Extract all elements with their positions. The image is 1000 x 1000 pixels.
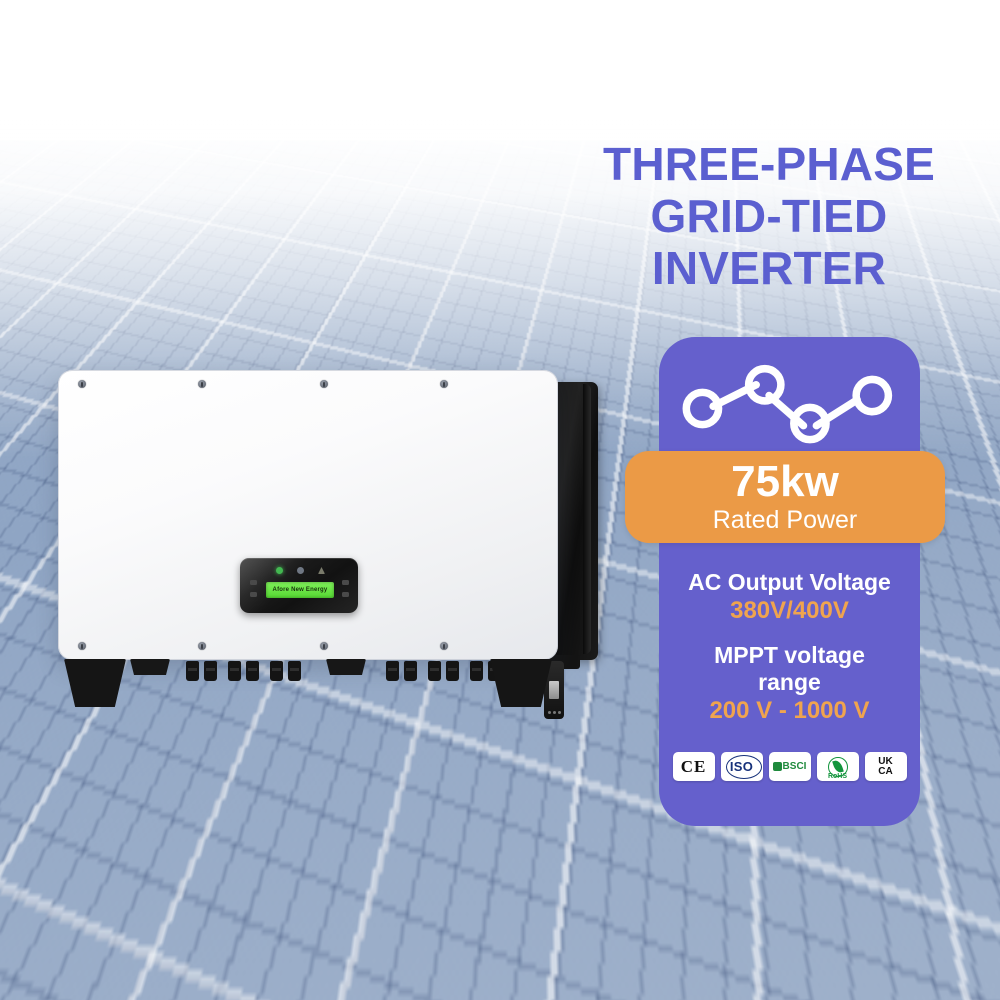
rated-power-label: Rated Power — [713, 506, 858, 534]
spec-value: 380V/400V — [659, 596, 920, 626]
bsci-icon — [773, 762, 782, 771]
spec-mppt-range: MPPT voltage range 200 V - 1000 V — [659, 642, 920, 726]
spec-title: MPPT voltage range — [659, 642, 920, 696]
rated-power-value: 75kw — [731, 460, 839, 504]
mc4-connector — [228, 661, 241, 681]
mc4-connector — [270, 661, 283, 681]
panel-keys-left[interactable] — [250, 580, 257, 597]
lcd-screen: Afore New Energy — [266, 582, 334, 598]
gland-indicator-dots — [548, 711, 561, 714]
screw — [440, 642, 448, 650]
rohs-mark: RoHS — [821, 755, 855, 779]
screw — [198, 642, 206, 650]
philippines-flag-icon — [408, 830, 526, 904]
spec-title: AC Output Voltage — [659, 569, 920, 596]
flag-item-philippines: Philippines — [406, 830, 528, 934]
mount-bracket-left — [64, 659, 126, 707]
screw — [78, 380, 86, 388]
spec-value: 200 V - 1000 V — [659, 696, 920, 726]
cert-bsci-badge: BSCI — [769, 752, 811, 781]
spec-ac-output: AC Output Voltage 380V/400V — [659, 569, 920, 626]
network-led — [297, 567, 304, 574]
vent-center — [326, 659, 366, 675]
screw — [440, 380, 448, 388]
alarm-led — [318, 567, 325, 574]
cert-ce-badge: CE — [673, 752, 715, 781]
flag-label: Palestine — [78, 914, 200, 934]
flag-item-palestine: Palestine — [78, 830, 200, 934]
flag-label: Philippines — [406, 914, 528, 934]
vent-left — [130, 659, 170, 675]
screw — [78, 642, 86, 650]
inverter-control-panel[interactable]: Afore New Energy — [240, 558, 358, 613]
cert-rohs-badge: RoHS — [817, 752, 859, 781]
cert-ukca-badge: UK CA — [865, 752, 907, 781]
ukca-label-bottom: CA — [878, 766, 892, 777]
mc4-connector — [428, 661, 441, 681]
panel-keys-right[interactable] — [342, 580, 349, 597]
headline-line-3: INVERTER — [560, 242, 978, 294]
escape-key[interactable] — [342, 592, 349, 597]
enter-key[interactable] — [342, 580, 349, 585]
inverter-connector-row — [58, 659, 563, 723]
spec-card: AC Output Voltage 380V/400V MPPT voltage… — [659, 337, 920, 826]
screw — [320, 380, 328, 388]
lcd-text: Afore New Energy — [273, 587, 328, 593]
power-led — [276, 567, 283, 574]
headline-line-1: THREE-PHASE — [560, 138, 978, 190]
mc4-connector — [404, 661, 417, 681]
up-key[interactable] — [250, 580, 257, 585]
mc4-connector — [186, 661, 199, 681]
porch-post — [586, 668, 608, 780]
rated-power-badge: 75kw Rated Power — [625, 451, 945, 543]
mc4-connector — [386, 661, 399, 681]
bsci-mark: BSCI — [773, 761, 807, 772]
portugal-flag-icon — [244, 830, 362, 904]
mc4-connector — [288, 661, 301, 681]
inverter-product-image: Afore New Energy — [58, 370, 603, 670]
ukca-mark: UK CA — [878, 757, 892, 777]
mc4-connector — [204, 661, 217, 681]
iso-label: ISO — [730, 759, 753, 774]
screw — [320, 642, 328, 650]
product-banner: Afore New Energy — [0, 0, 1000, 1000]
mc4-connector — [246, 661, 259, 681]
country-flag-list: Palestine Portugal Philippines — [78, 830, 548, 934]
flag-label: Portugal — [242, 914, 364, 934]
mount-bracket-right — [490, 659, 552, 707]
status-led-group — [276, 567, 325, 574]
headline-line-2: GRID-TIED — [560, 190, 978, 242]
network-nodes-icon — [659, 359, 920, 445]
rohs-label: RoHS — [821, 773, 855, 780]
inverter-body: Afore New Energy — [58, 370, 558, 660]
ce-label: CE — [681, 757, 707, 777]
mc4-connector — [470, 661, 483, 681]
cert-iso-badge: ISO — [721, 752, 763, 781]
certification-badges: CE ISO BSCI RoHS UK CA — [659, 752, 920, 781]
screw — [198, 380, 206, 388]
down-key[interactable] — [250, 592, 257, 597]
bsci-label: BSCI — [783, 761, 807, 772]
palestine-flag-icon — [80, 830, 198, 904]
flag-item-portugal: Portugal — [242, 830, 364, 934]
mc4-connector — [446, 661, 459, 681]
page-title: THREE-PHASE GRID-TIED INVERTER — [560, 138, 978, 294]
